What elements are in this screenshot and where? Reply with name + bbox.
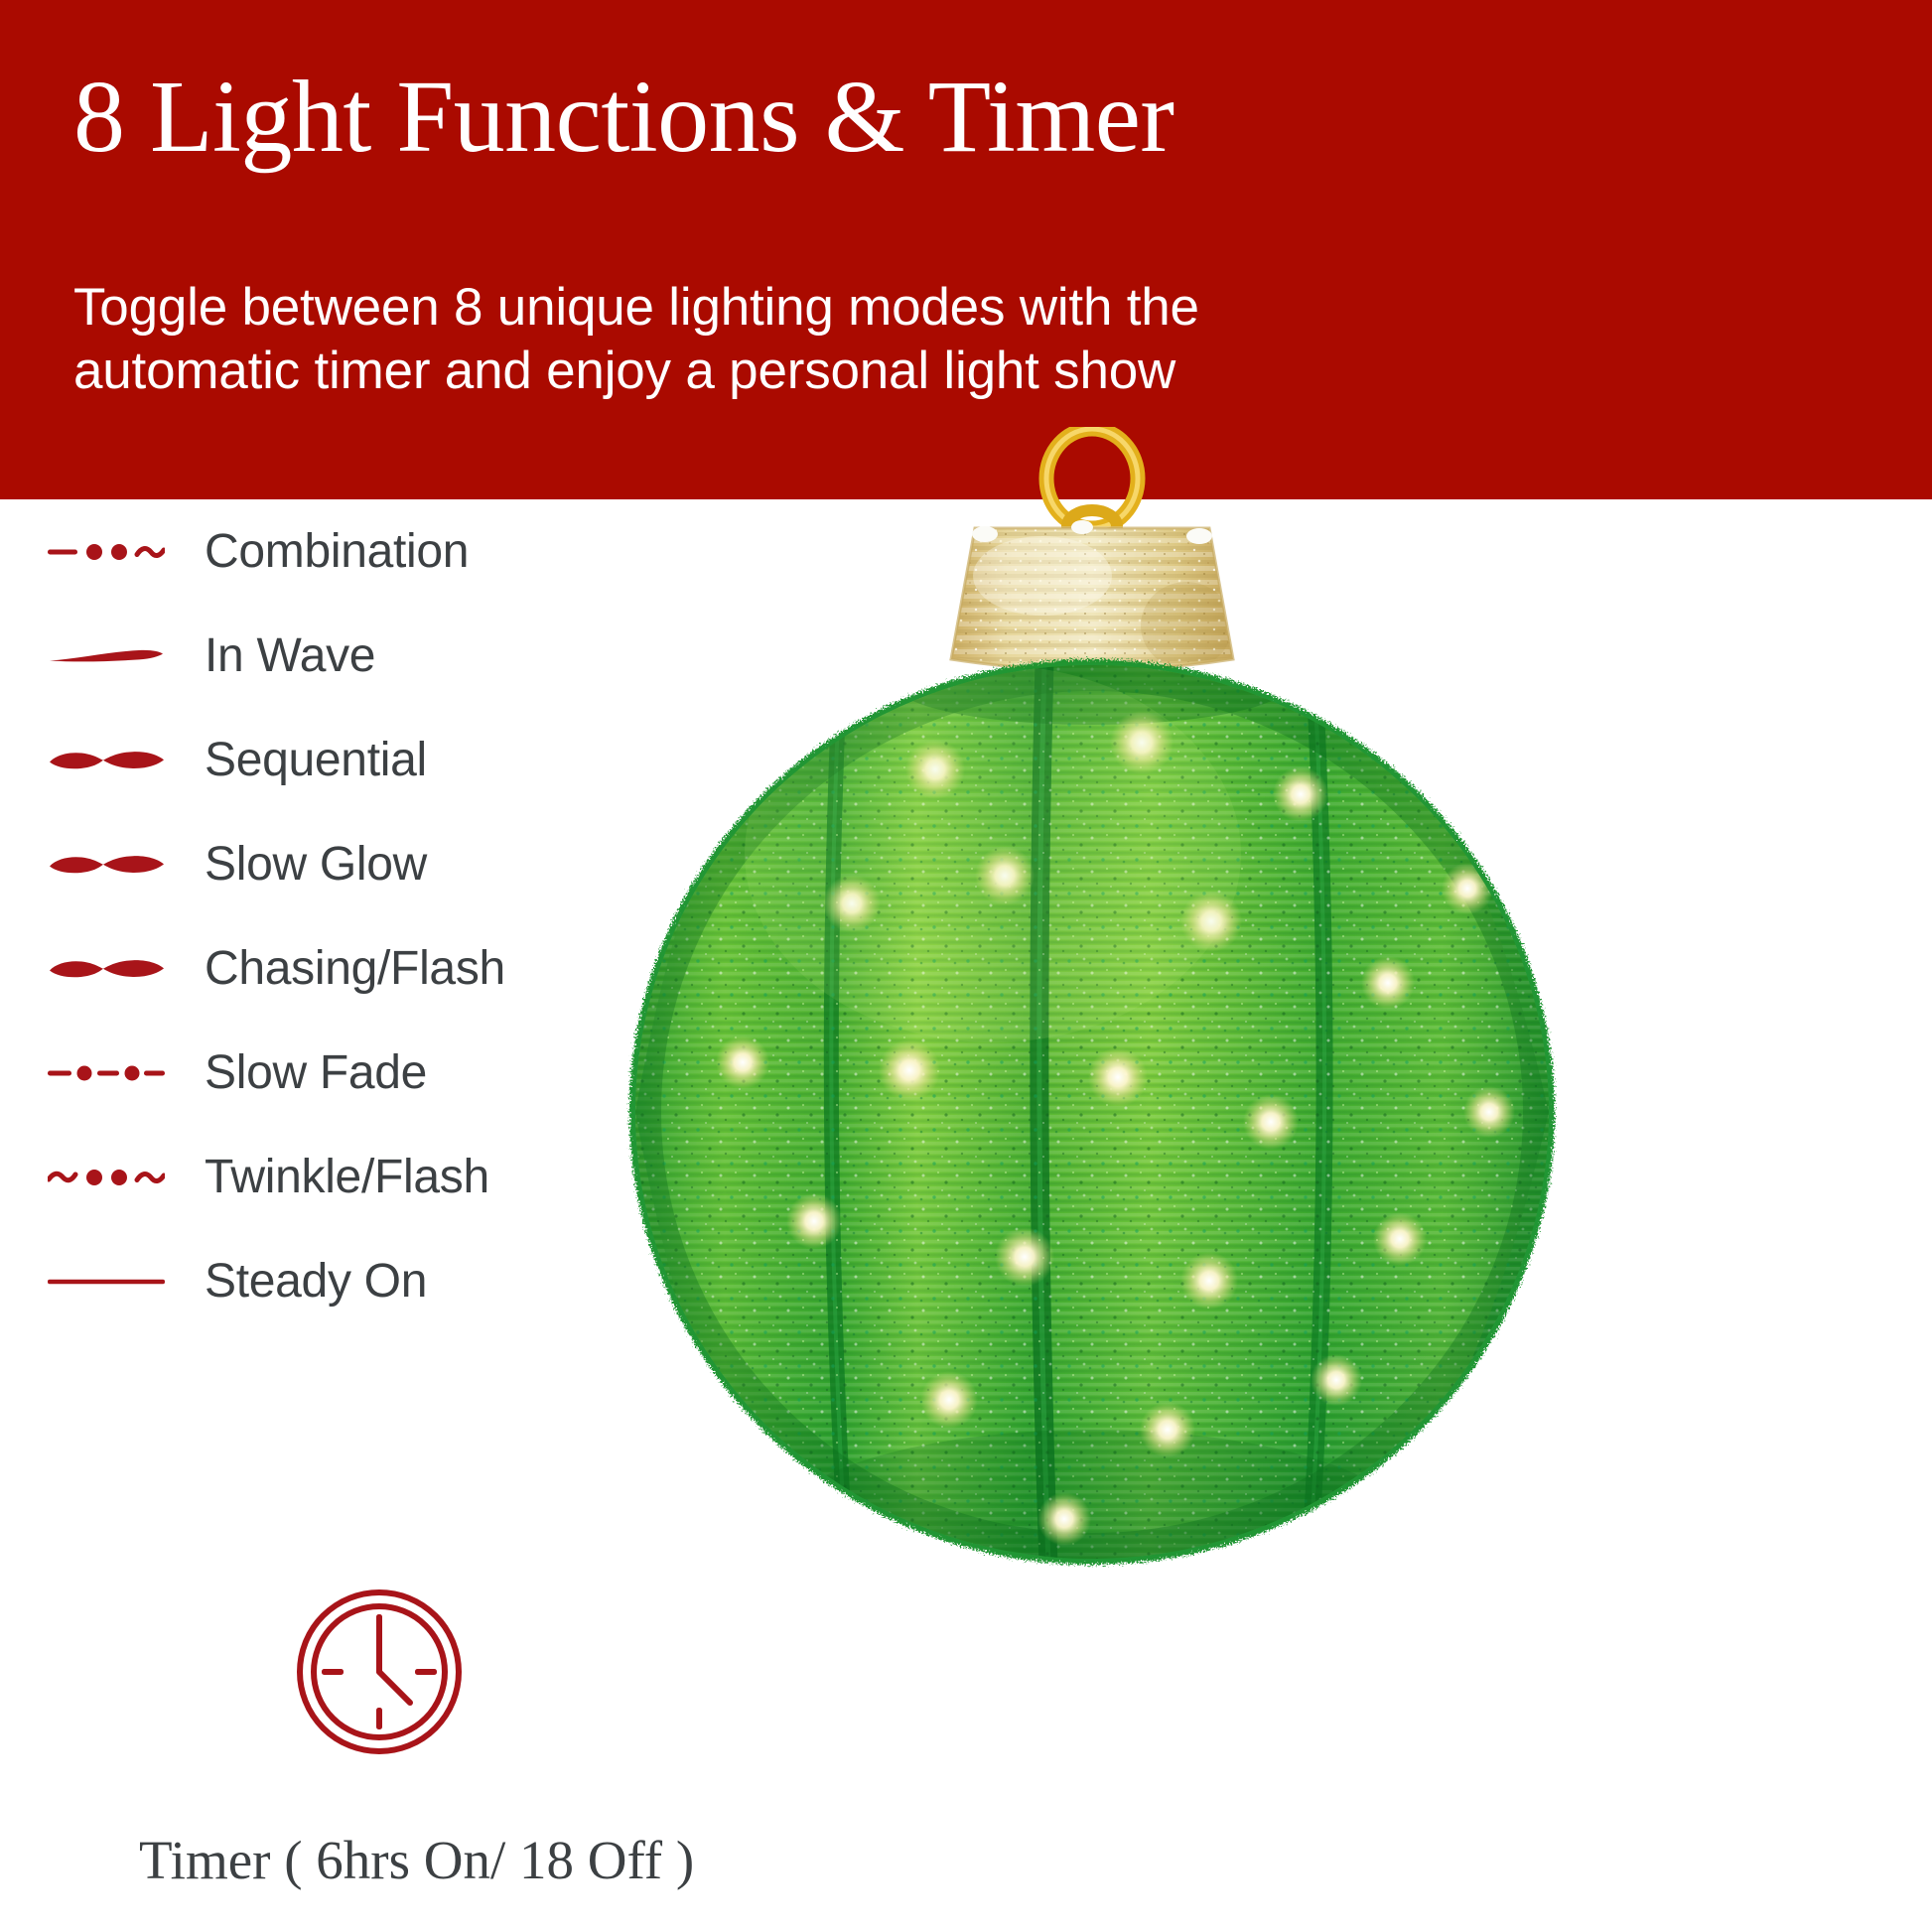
legend-label: Combination [205,524,469,579]
legend-label: Slow Glow [205,837,427,892]
legend-label: Sequential [205,733,427,787]
legend-item-sequential: Sequential [0,708,715,812]
page-title: 8 Light Functions & Timer [73,62,1174,173]
double-lens-icon [0,812,199,916]
page-subtitle: Toggle between 8 unique lighting modes w… [73,276,1314,403]
timer-label: Timer ( 6hrs On/ 18 Off ) [139,1829,694,1891]
subtitle-line-2: automatic timer and enjoy a personal lig… [73,340,1314,403]
legend-item-combination: Combination [0,499,715,604]
legend-label: Slow Fade [205,1045,427,1100]
legend-label: In Wave [205,628,375,683]
single-long-lens-icon [0,604,199,708]
legend-label: Twinkle/Flash [205,1150,489,1204]
legend-item-steady-on: Steady On [0,1229,715,1333]
legend-item-twinkle-flash: Twinkle/Flash [0,1125,715,1229]
legend-item-in-wave: In Wave [0,604,715,708]
clock-icon [294,1587,465,1757]
ornament-ball [616,641,1569,1579]
header-banner: 8 Light Functions & Timer Toggle between… [0,0,1932,499]
legend-label: Chasing/Flash [205,941,505,996]
solid-line-icon [0,1229,199,1333]
light-functions-legend: Combination In Wave Sequential [0,499,715,1333]
legend-item-slow-fade: Slow Fade [0,1021,715,1125]
double-lens-icon [0,708,199,812]
infographic-canvas: 8 Light Functions & Timer Toggle between… [0,0,1932,1932]
double-lens-icon [0,916,199,1021]
legend-item-slow-glow: Slow Glow [0,812,715,916]
product-image-ornament [616,427,1569,1579]
subtitle-line-1: Toggle between 8 unique lighting modes w… [73,276,1314,340]
wave-dot-dot-wave-icon [0,1125,199,1229]
legend-item-chasing-flash: Chasing/Flash [0,916,715,1021]
dash-dot-dot-wave-icon [0,499,199,604]
legend-label: Steady On [205,1254,427,1309]
dash-dot-dash-dot-dash-icon [0,1021,199,1125]
